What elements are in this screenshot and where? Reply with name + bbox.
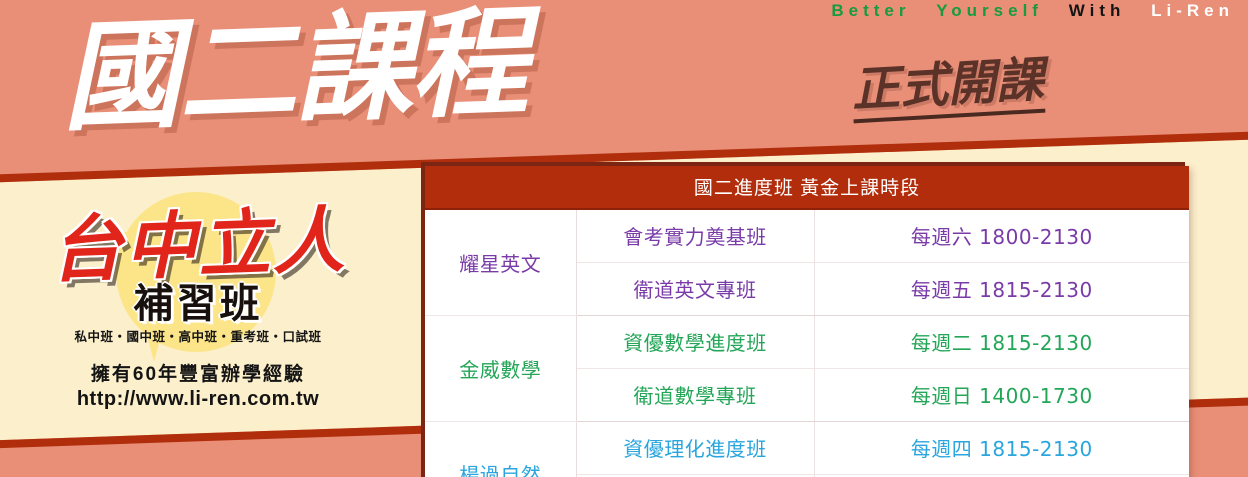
table-row: 楊過自然資優理化進度班每週四 1815-2130 [425,422,1189,475]
schedule-title: 國二進度班 黃金上課時段 [425,166,1189,209]
logo-brand-name: 台中立人 [27,190,370,288]
tagline-word-liren: Li-Ren [1151,1,1234,20]
course-name-cell: 會考實力奠基班 [576,209,814,263]
promo-banner: Better Yourself With Li-Ren 國二課程 正式開課 台中… [0,0,1248,477]
subject-cell: 耀星英文 [425,209,576,316]
course-time-cell: 每週日 1400-1730 [814,369,1189,422]
table-row: 金威數學資優數學進度班每週二 1815-2130 [425,316,1189,369]
table-row: 耀星英文會考實力奠基班每週六 1800-2130 [425,209,1189,263]
logo-experience-text: 擁有60年豐富辦學經驗 [28,363,368,387]
schedule-table: 國二進度班 黃金上課時段 耀星英文會考實力奠基班每週六 1800-2130衛道英… [425,166,1189,477]
course-time-cell: 每週五 1815-2130 [814,263,1189,316]
tagline-word-with: With [1069,1,1126,20]
subject-cell: 金威數學 [425,316,576,422]
tagline-word-yourself: Yourself [936,1,1043,20]
table-header-row: 國二進度班 黃金上課時段 [425,166,1189,209]
subject-cell: 楊過自然 [425,422,576,477]
tagline-word-better: Better [831,1,910,20]
logo-type-name: 補習班 [28,284,368,324]
brand-logo: 台中立人 補習班 私中班・國中班・高中班・重考班・口試班 擁有60年豐富辦學經驗… [28,196,368,421]
course-name-cell: 衛道數學專班 [576,369,814,422]
course-name-cell: 衛道英文專班 [576,263,814,316]
schedule-body: 耀星英文會考實力奠基班每週六 1800-2130衛道英文專班每週五 1815-2… [425,209,1189,477]
logo-website-url[interactable]: http://www.li-ren.com.tw [28,387,368,411]
course-name-cell: 資優數學進度班 [576,316,814,369]
course-time-cell: 每週二 1815-2130 [814,316,1189,369]
tagline: Better Yourself With Li-Ren [831,1,1234,21]
logo-class-list: 私中班・國中班・高中班・重考班・口試班 [28,331,368,344]
course-name-cell: 資優理化進度班 [576,422,814,475]
headline-title: 國二課程 [60,0,528,143]
course-time-cell: 每週四 1815-2130 [814,422,1189,475]
schedule-table-container: 國二進度班 黃金上課時段 耀星英文會考實力奠基班每週六 1800-2130衛道英… [421,162,1185,477]
course-time-cell: 每週六 1800-2130 [814,209,1189,263]
headline-subtitle: 正式開課 [851,57,1046,124]
